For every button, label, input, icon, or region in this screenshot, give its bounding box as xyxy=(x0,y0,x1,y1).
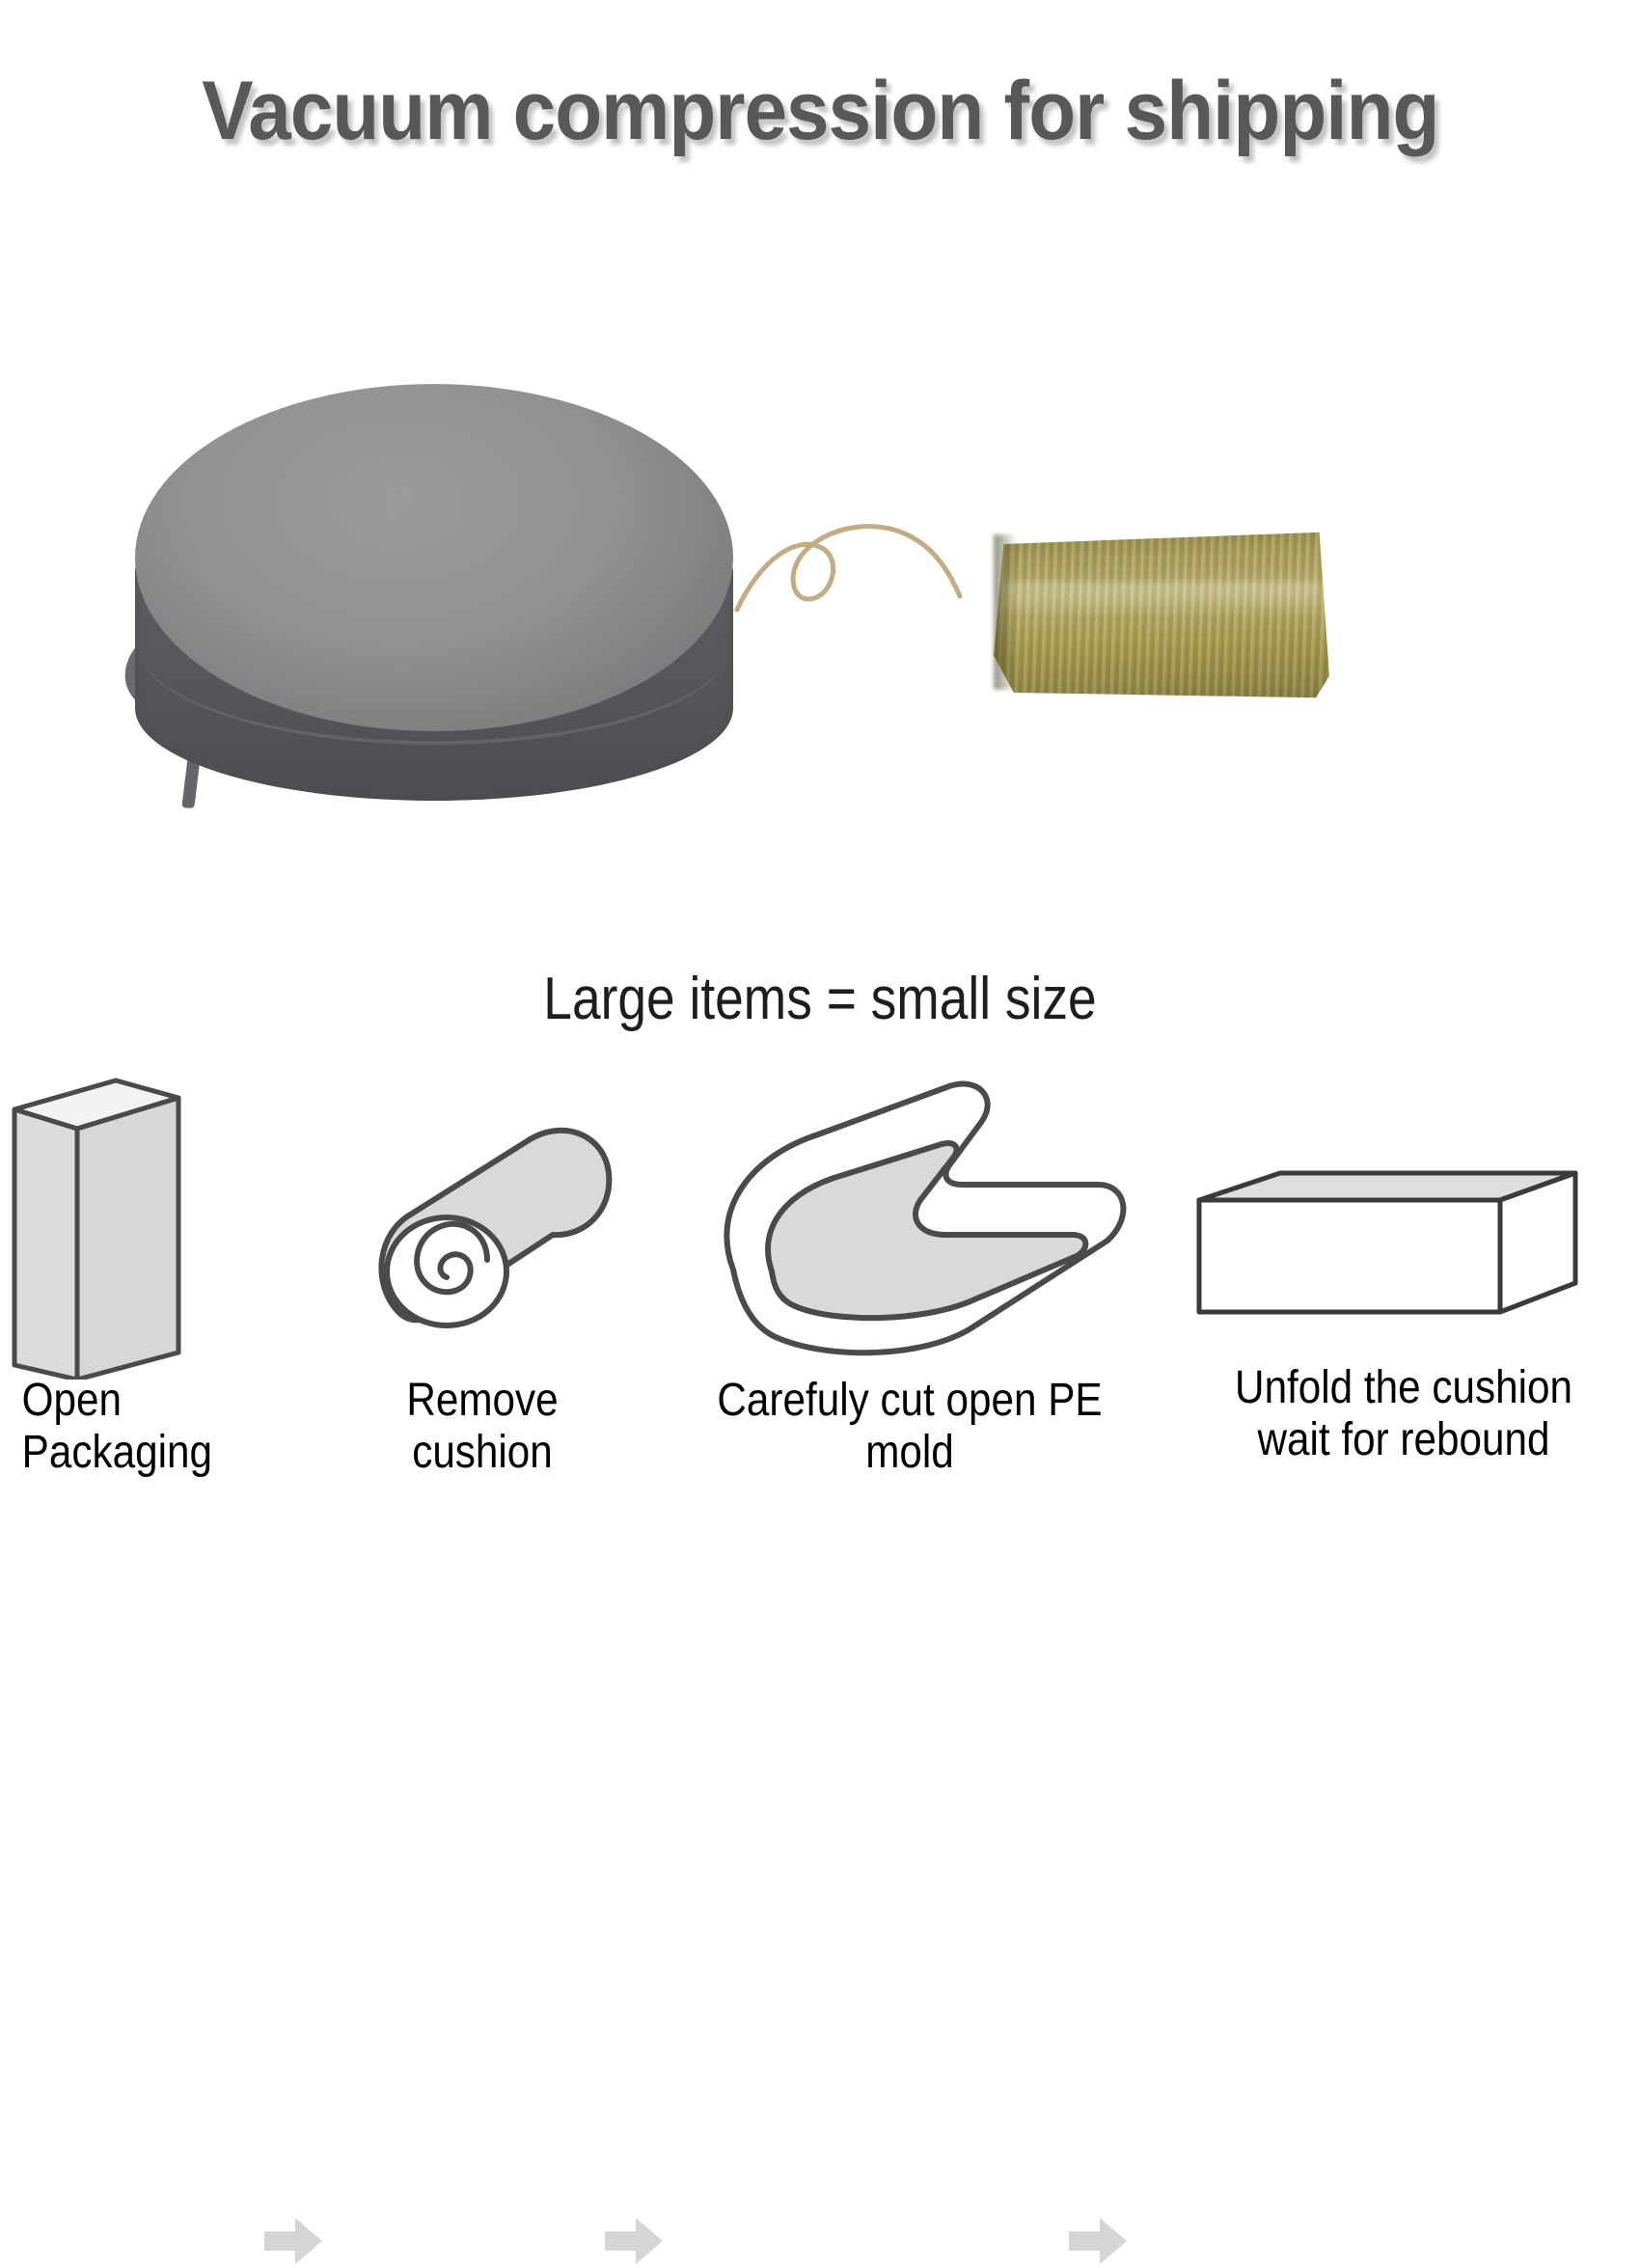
pe-mold-blob-icon xyxy=(683,994,1136,1380)
hero-illustration xyxy=(0,357,1640,916)
vacuum-compressed-bag xyxy=(994,531,1329,699)
tall-carton-box-icon xyxy=(0,994,280,1380)
step-remove-cushion: Remove cushion xyxy=(342,994,622,1457)
bag-shape xyxy=(994,531,1329,699)
right-arrow-icon xyxy=(262,2214,324,2268)
flat-box-icon xyxy=(1182,994,1626,1380)
round-cushion-photo xyxy=(106,376,743,878)
cushion-seam xyxy=(139,548,729,745)
rolled-cushion-icon xyxy=(342,994,622,1380)
step-open-packaging: Open Packaging xyxy=(0,994,280,1457)
step-label: Remove cushion xyxy=(359,1375,605,1479)
step-cut-open-pe-mold: Carefuly cut open PE mold xyxy=(683,994,1136,1457)
step-label: Open Packaging xyxy=(16,1375,262,1479)
drawstring-cord-icon xyxy=(733,492,974,627)
bag-highlight xyxy=(1003,582,1319,615)
bag-left-edge-shadow xyxy=(994,534,1017,690)
right-arrow-icon xyxy=(1067,2214,1129,2268)
title-area: Vacuum compression for shipping xyxy=(0,69,1640,152)
page-title: Vacuum compression for shipping xyxy=(202,69,1438,152)
right-arrow-icon xyxy=(603,2214,665,2268)
instruction-steps: Open Packaging Remove cushion Carefuly c… xyxy=(0,994,1640,1457)
step-unfold-cushion: Unfold the cushion wait for rebound xyxy=(1182,994,1626,1457)
step-label: Carefuly cut open PE mold xyxy=(710,1375,1109,1479)
step-label: Unfold the cushion wait for rebound xyxy=(1209,1362,1599,1466)
